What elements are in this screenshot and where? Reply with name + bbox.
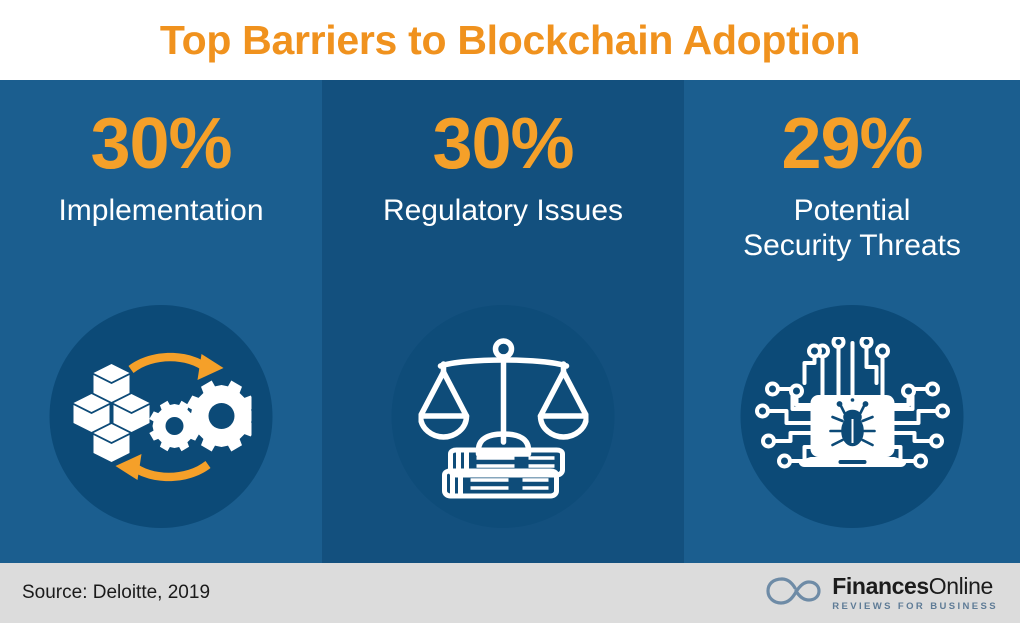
- logo-tagline: REVIEWS FOR BUSINESS: [832, 602, 998, 612]
- stat-percent: 30%: [432, 108, 573, 180]
- stat-label: Regulatory Issues: [377, 194, 629, 229]
- finances-online-logo[interactable]: FinancesOnline REVIEWS FOR BUSINESS: [765, 574, 998, 613]
- logo-wordmark: FinancesOnline: [832, 575, 998, 598]
- stat-label: Potential Security Threats: [737, 194, 967, 263]
- scales-of-justice-books-icon: [392, 305, 615, 528]
- laptop-bug-circuit-icon: [741, 305, 964, 528]
- stats-row: 30% Implementation: [0, 80, 1020, 563]
- stat-column-regulatory-issues: 30% Regulatory Issues: [322, 80, 684, 563]
- header-bar: Top Barriers to Blockchain Adoption: [0, 0, 1020, 80]
- stat-percent: 29%: [781, 108, 922, 180]
- stat-column-security-threats: 29% Potential Security Threats: [684, 80, 1020, 563]
- logo-word-finances: Finances: [832, 573, 929, 599]
- stat-percent: 30%: [90, 108, 231, 180]
- stat-column-implementation: 30% Implementation: [0, 80, 322, 563]
- footer-bar: Source: Deloitte, 2019 FinancesOnline RE…: [0, 563, 1020, 623]
- stat-label: Implementation: [52, 194, 269, 229]
- page-title: Top Barriers to Blockchain Adoption: [160, 20, 860, 61]
- infographic-root: Top Barriers to Blockchain Adoption 30% …: [0, 0, 1020, 623]
- blockchain-implementation-icon: [50, 305, 273, 528]
- source-note: Source: Deloitte, 2019: [22, 582, 210, 604]
- finances-online-cloud-icon: [765, 574, 823, 613]
- logo-word-online: Online: [929, 573, 993, 599]
- logo-text-block: FinancesOnline REVIEWS FOR BUSINESS: [832, 575, 998, 612]
